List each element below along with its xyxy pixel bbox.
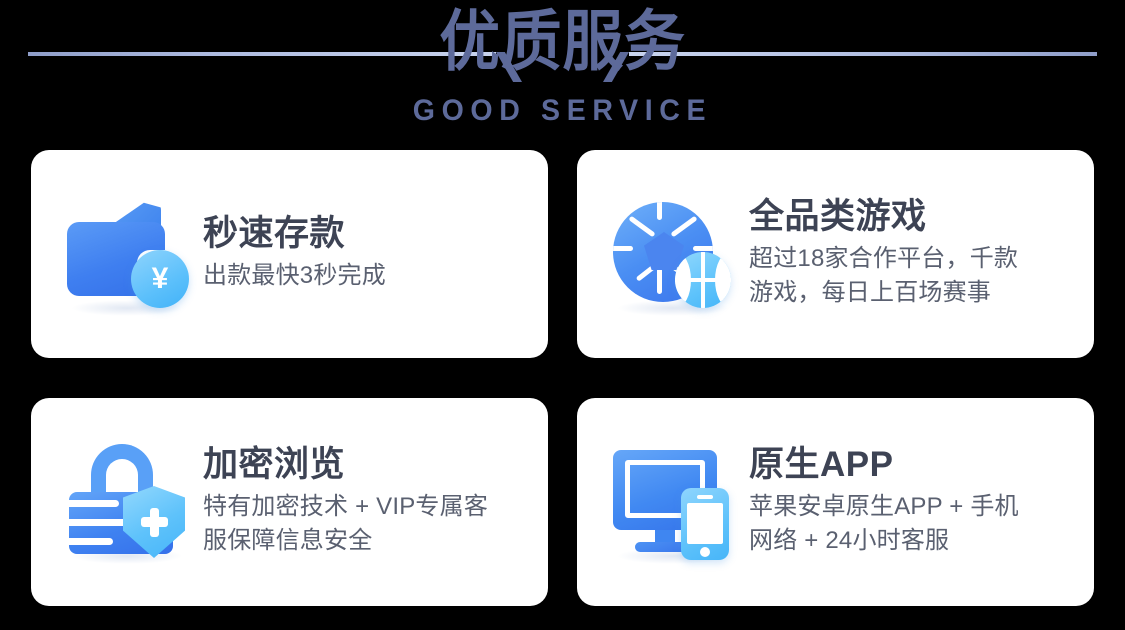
lock-shield-icon xyxy=(61,436,193,568)
card-description: 超过18家合作平台，千款 游戏，每日上百场赛事 xyxy=(749,242,1076,310)
basketball-icon xyxy=(675,252,731,308)
card-text-block: 秒速存款 出款最快3秒完成 xyxy=(203,215,530,294)
card-description: 苹果安卓原生APP + 手机 网络 + 24小时客服 xyxy=(749,490,1076,558)
card-description-line: 苹果安卓原生APP + 手机 xyxy=(749,490,1076,524)
soccer-basketball-icon xyxy=(607,188,739,320)
feature-card-native-app[interactable]: 原生APP 苹果安卓原生APP + 手机 网络 + 24小时客服 xyxy=(577,398,1094,606)
card-text-block: 加密浏览 特有加密技术 + VIP专属客 服保障信息安全 xyxy=(203,446,530,559)
page-subtitle: GOOD SERVICE xyxy=(28,96,1097,126)
home-button-icon xyxy=(700,547,710,557)
card-description: 特有加密技术 + VIP专属客 服保障信息安全 xyxy=(203,490,530,558)
card-title: 秒速存款 xyxy=(203,215,530,254)
card-description-line: 特有加密技术 + VIP专属客 xyxy=(203,490,530,524)
good-service-banner: 优质服务 GOOD SERVICE ¥ 秒速存款 出款最快3秒完成 xyxy=(0,0,1125,630)
yen-coin-icon: ¥ xyxy=(131,250,189,308)
banner-header: 优质服务 GOOD SERVICE xyxy=(0,0,1125,140)
card-text-block: 原生APP 苹果安卓原生APP + 手机 网络 + 24小时客服 xyxy=(749,446,1076,559)
card-title: 加密浏览 xyxy=(203,446,530,485)
card-description-line: 服保障信息安全 xyxy=(203,524,530,558)
card-description-line: 网络 + 24小时客服 xyxy=(749,524,1076,558)
feature-card-encryption[interactable]: 加密浏览 特有加密技术 + VIP专属客 服保障信息安全 xyxy=(31,398,548,606)
page-title: 优质服务 xyxy=(45,8,1080,74)
monitor-phone-icon xyxy=(607,436,739,568)
card-description-line: 超过18家合作平台，千款 xyxy=(749,242,1076,276)
smartphone-icon xyxy=(681,488,729,560)
card-title: 全品类游戏 xyxy=(749,198,1076,237)
card-text-block: 全品类游戏 超过18家合作平台，千款 游戏，每日上百场赛事 xyxy=(749,198,1076,311)
card-description: 出款最快3秒完成 xyxy=(203,259,530,293)
yen-symbol: ¥ xyxy=(131,250,189,308)
card-description-line: 出款最快3秒完成 xyxy=(203,259,530,293)
wallet-yen-icon: ¥ xyxy=(61,188,193,320)
feature-card-games[interactable]: 全品类游戏 超过18家合作平台，千款 游戏，每日上百场赛事 xyxy=(577,150,1094,358)
feature-card-deposit[interactable]: ¥ 秒速存款 出款最快3秒完成 xyxy=(31,150,548,358)
card-description-line: 游戏，每日上百场赛事 xyxy=(749,276,1076,310)
card-title: 原生APP xyxy=(749,446,1076,485)
feature-card-grid: ¥ 秒速存款 出款最快3秒完成 xyxy=(31,150,1094,606)
